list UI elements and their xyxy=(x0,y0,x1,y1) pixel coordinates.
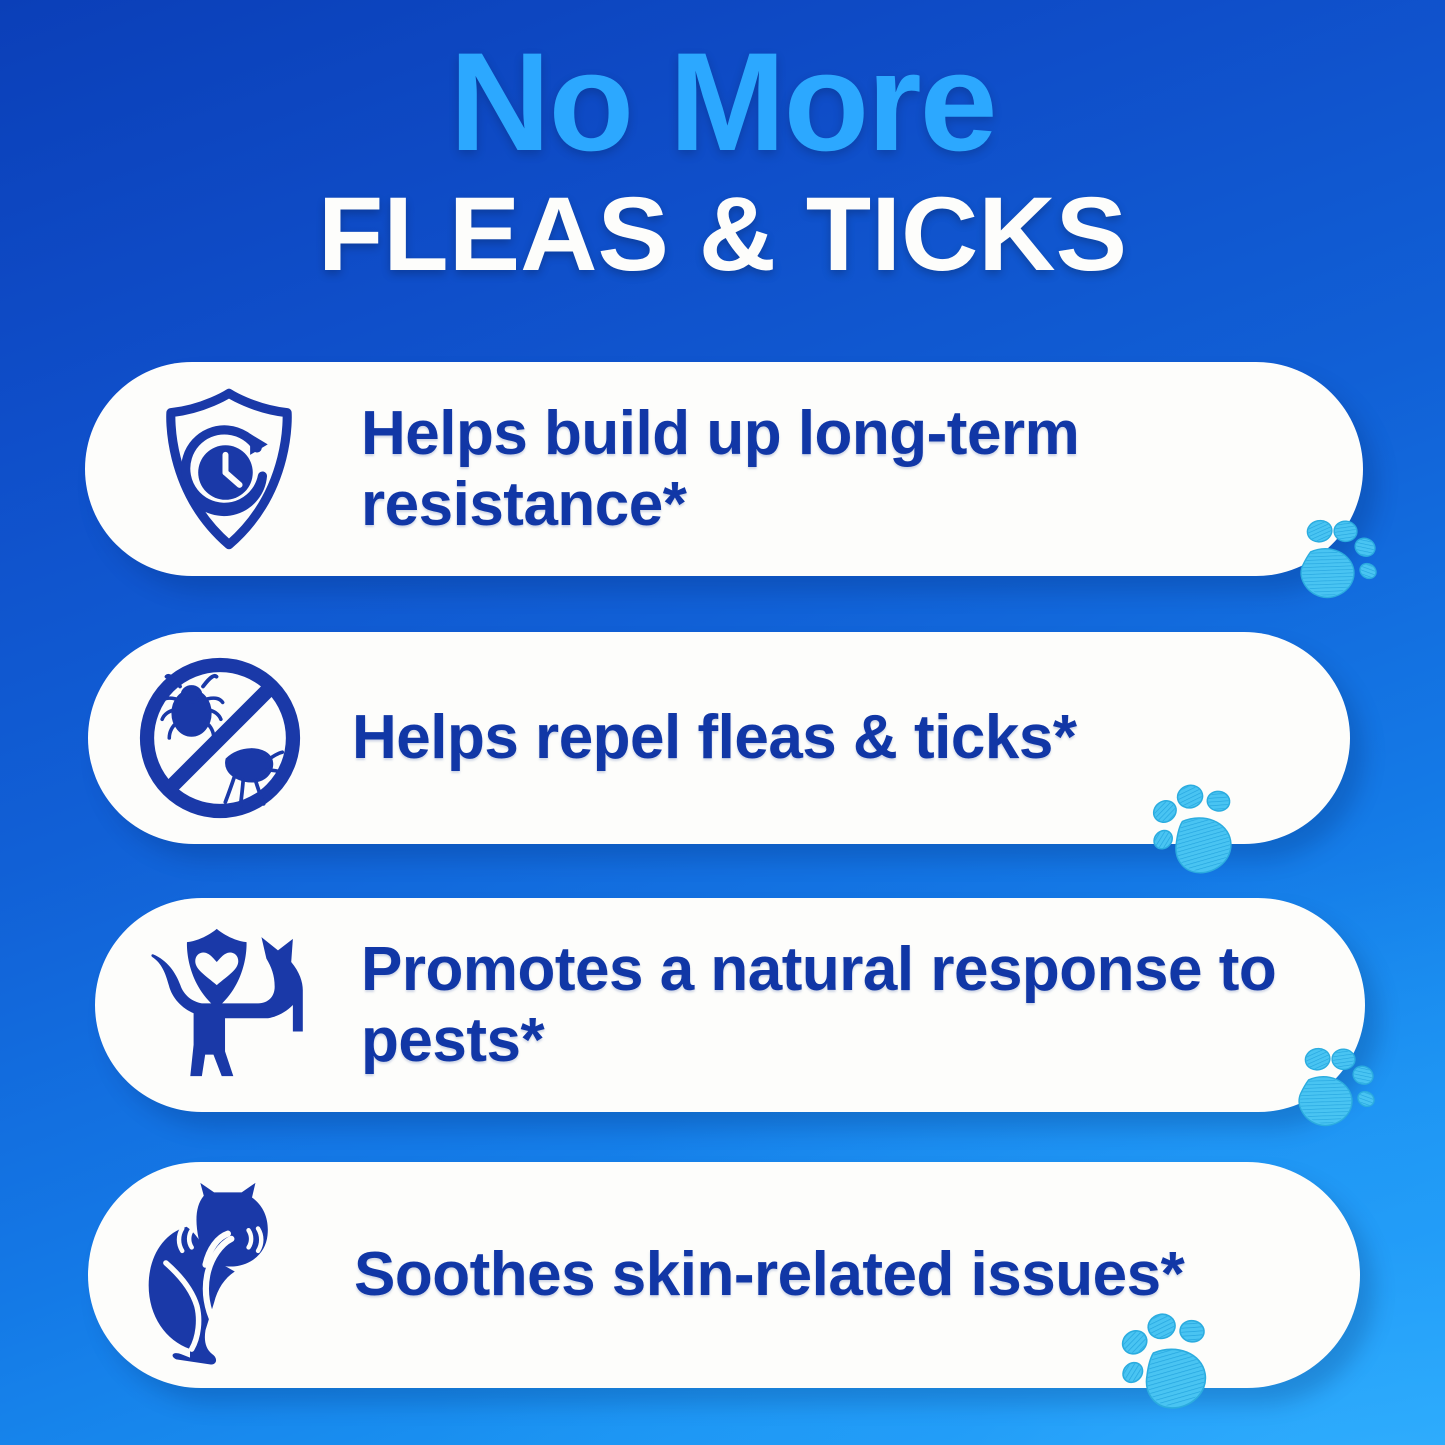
no-pests-icon xyxy=(131,649,309,827)
shield-clock-icon xyxy=(141,381,317,557)
cat-shield-heart-icon xyxy=(139,919,321,1091)
benefit-text: Helps repel fleas & ticks* xyxy=(352,702,1076,773)
benefit-card-natural-response: Promotes a natural response to pests* xyxy=(95,898,1365,1112)
benefit-card-repel-fleas-ticks: Helps repel fleas & ticks* xyxy=(88,632,1350,844)
benefit-card-long-term-resistance: Helps build up long-term resistance* xyxy=(85,362,1363,576)
benefit-text: Helps build up long-term resistance* xyxy=(361,398,1363,541)
headline-secondary: FLEAS & TICKS xyxy=(0,182,1445,287)
benefit-icon-wrapper xyxy=(125,919,335,1091)
benefit-text: Promotes a natural response to pests* xyxy=(361,934,1365,1077)
benefit-icon-wrapper xyxy=(119,381,339,557)
benefit-icon-wrapper xyxy=(116,1182,326,1368)
page-title: No More FLEAS & TICKS xyxy=(0,32,1445,287)
benefit-card-soothes-skin: Soothes skin-related issues* xyxy=(88,1162,1360,1388)
benefit-icon-wrapper xyxy=(110,649,330,827)
cat-scratching-icon xyxy=(134,1182,308,1368)
benefit-text: Soothes skin-related issues* xyxy=(354,1239,1184,1310)
headline-primary: No More xyxy=(0,32,1445,172)
promo-poster: No More FLEAS & TICKS Helps build up lon… xyxy=(0,0,1445,1445)
